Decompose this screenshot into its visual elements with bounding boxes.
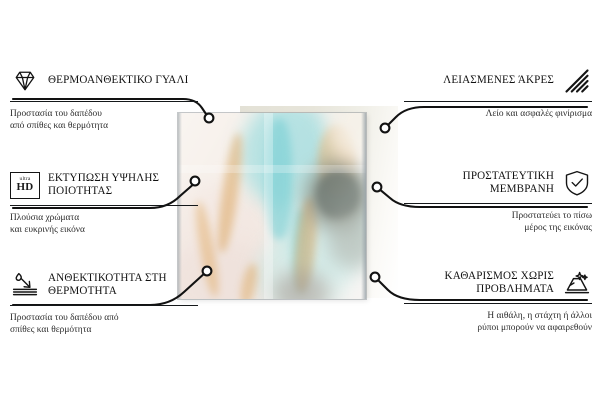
feature-description: Προστασία του δαπέδου από σπίθες και θερ… [10,108,198,132]
feature-title: ΘΕΡΜΟΑΝΘΕΚΤΙΚΟ ΓΥΑΛΙ [48,74,189,87]
feature-heat-durability: ΑΝΘΕΚΤΙΚΟΤΗΤΑ ΣΤΗ ΘΕΡΜΟΤΗΤΑ Προστασία το… [10,268,198,336]
feature-high-quality-print: ultra HD ΕΚΤΥΠΩΣΗ ΥΨΗΛΗΣ ΠΟΙΟΤΗΤΑΣ Πλούσ… [10,168,198,236]
feature-title: ΚΑΘΑΡΙΣΜΟΣ ΧΩΡΙΣ ΠΡΟΒΛΗΜΑΤΑ [404,270,554,297]
ultra-hd-icon-bottom: HD [17,182,34,193]
shield-check-icon [562,168,592,198]
divider [10,101,198,102]
feature-title: ΛΕΙΑΣΜΕΝΕΣ ΆΚΡΕΣ [443,74,554,87]
feature-header: ultra HD ΕΚΤΥΠΩΣΗ ΥΨΗΛΗΣ ΠΟΙΟΤΗΤΑΣ [10,168,198,202]
feature-title: ΕΚΤΥΠΩΣΗ ΥΨΗΛΗΣ ΠΟΙΟΤΗΤΑΣ [48,172,198,199]
feature-easy-cleaning: ΚΑΘΑΡΙΣΜΟΣ ΧΩΡΙΣ ΠΡΟΒΛΗΜΑΤΑ Η αιθάλη, η … [404,266,592,334]
flame-deflect-icon [10,270,40,300]
feature-smoothed-edges: ΛΕΙΑΣΜΕΝΕΣ ΆΚΡΕΣ Λείο και ασφαλές φινίρι… [404,64,592,120]
feature-description: Προστατεύει το πίσω μέρος της εικόνας [404,210,592,234]
feature-description: Λείο και ασφαλές φινίρισμα [404,108,592,120]
divider [10,205,198,206]
feature-protective-membrane: ΠΡΟΣΤΑΤΕΥΤΙΚΗ ΜΕΜΒΡΑΝΗ Προστατεύει το πί… [404,166,592,234]
sparkle-clean-icon [562,268,592,298]
feature-title: ΑΝΘΕΚΤΙΚΟΤΗΤΑ ΣΤΗ ΘΕΡΜΟΤΗΤΑ [48,272,198,299]
divider [10,305,198,306]
ultra-hd-icon: ultra HD [10,170,40,200]
polished-edge-icon [562,66,592,96]
feature-heat-resistant-glass: ΘΕΡΜΟΑΝΘΕΚΤΙΚΟ ΓΥΑΛΙ Προστασία του δαπέδ… [10,64,198,132]
product-image-stage [178,108,400,300]
divider [404,101,592,102]
glass-panel-image [178,113,366,299]
glass-sheen [178,113,366,299]
divider [404,203,592,204]
feature-description: Η αιθάλη, η στάχτη ή άλλοι ρύποι μπορούν… [404,310,592,334]
feature-header: ΑΝΘΕΚΤΙΚΟΤΗΤΑ ΣΤΗ ΘΕΡΜΟΤΗΤΑ [10,268,198,302]
divider [404,303,592,304]
feature-description: Πλούσια χρώματα και ευκρινής εικόνα [10,212,198,236]
product-feature-infographic: ΘΕΡΜΟΑΝΘΕΚΤΙΚΟ ΓΥΑΛΙ Προστασία του δαπέδ… [0,0,600,400]
diamond-icon [10,66,40,96]
glass-edge-right [361,113,366,299]
feature-header: ΛΕΙΑΣΜΕΝΕΣ ΆΚΡΕΣ [404,64,592,98]
feature-header: ΠΡΟΣΤΑΤΕΥΤΙΚΗ ΜΕΜΒΡΑΝΗ [404,166,592,200]
feature-header: ΘΕΡΜΟΑΝΘΕΚΤΙΚΟ ΓΥΑΛΙ [10,64,198,98]
feature-title: ΠΡΟΣΤΑΤΕΥΤΙΚΗ ΜΕΜΒΡΑΝΗ [404,170,554,197]
feature-description: Προστασία του δαπέδου από σπίθες και θερ… [10,312,198,336]
feature-header: ΚΑΘΑΡΙΣΜΟΣ ΧΩΡΙΣ ΠΡΟΒΛΗΜΑΤΑ [404,266,592,300]
